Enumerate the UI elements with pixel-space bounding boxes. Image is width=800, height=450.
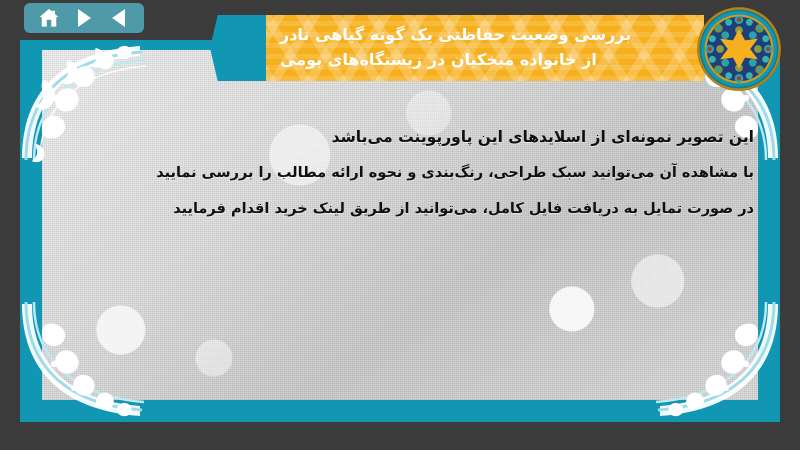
chevron-left-icon <box>112 9 125 27</box>
home-icon <box>38 8 60 28</box>
body-line-1: این تصویر نمونه‌ای از اسلایدهای این پاور… <box>60 118 754 156</box>
slide-stage: این تصویر نمونه‌ای از اسلایدهای این پاور… <box>0 0 800 450</box>
page-title-line-1: بررسی وضعیت حفاظتی یک گونه گیاهی نادر <box>280 23 631 48</box>
slide-frame <box>20 40 780 422</box>
body-line-3: در صورت تمایل به دریافت فایل کامل، می‌تو… <box>60 192 754 228</box>
slide-navigation-bar[interactable] <box>24 3 144 33</box>
persian-medallion-icon <box>696 6 782 92</box>
chevron-right-icon <box>78 9 91 27</box>
title-banner: بررسی وضعیت حفاظتی یک گونه گیاهی نادر از… <box>266 15 704 81</box>
title-arrow-shape <box>210 15 274 81</box>
next-button[interactable] <box>71 7 97 29</box>
slide-body: این تصویر نمونه‌ای از اسلایدهای این پاور… <box>60 118 754 227</box>
slide-title-bar: بررسی وضعیت حفاظتی یک گونه گیاهی نادر از… <box>210 15 704 81</box>
page-title-line-2: از خانواده میخکیان در زیستگاه‌های بومی <box>280 48 597 73</box>
prev-button[interactable] <box>106 7 132 29</box>
body-line-2: با مشاهده آن می‌توانید سبک طراحی، رنگ‌بن… <box>60 156 754 192</box>
home-button[interactable] <box>36 7 62 29</box>
